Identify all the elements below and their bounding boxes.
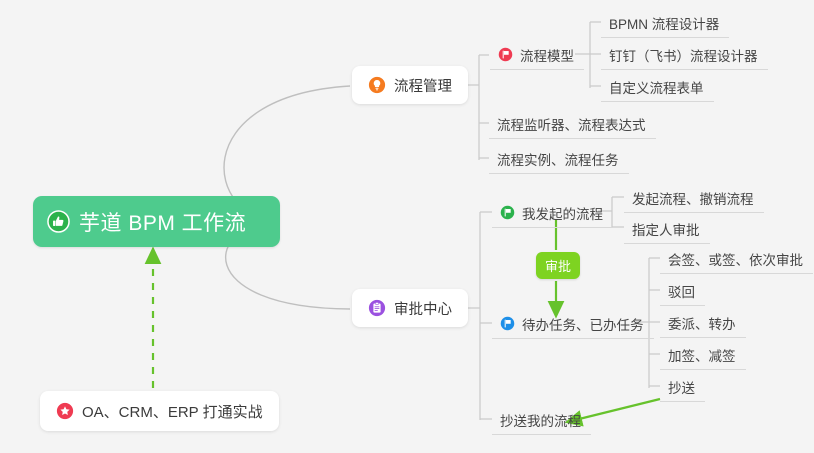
leaf-label-reject: 驳回 [668, 281, 695, 301]
leaf-label-dingtalk-feishu-designer: 钉钉（飞书）流程设计器 [609, 45, 758, 65]
leaf-node-my-initiated[interactable]: 我发起的流程 [492, 198, 613, 228]
leaf-node-todo-done[interactable]: 待办任务、已办任务 [492, 309, 654, 339]
leaf-label-delegate-transfer: 委派、转办 [668, 313, 736, 333]
leaf-label-bpmn-designer: BPMN 流程设计器 [609, 13, 719, 33]
leaf-node-add-remove-sign[interactable]: 加签、减签 [660, 340, 746, 370]
leaf-label-my-initiated: 我发起的流程 [522, 203, 603, 223]
leaf-node-instance-task[interactable]: 流程实例、流程任务 [489, 144, 629, 174]
leaf-label-listener-expression: 流程监听器、流程表达式 [497, 114, 646, 134]
integration-label: OA、CRM、ERP 打通实战 [82, 401, 263, 422]
root-node[interactable]: 芋道 BPM 工作流 [33, 196, 280, 247]
leaf-node-reject[interactable]: 驳回 [660, 276, 705, 306]
leaf-node-delegate-transfer[interactable]: 委派、转办 [660, 308, 746, 338]
branch-node-approval-center[interactable]: 审批中心 [352, 289, 468, 327]
lightbulb-icon [368, 76, 386, 94]
leaf-node-assignee-approval[interactable]: 指定人审批 [624, 214, 710, 244]
leaf-label-cc-to-me: 抄送我的流程 [500, 410, 581, 430]
leaf-node-cc[interactable]: 抄送 [660, 372, 705, 402]
leaf-node-cc-to-me[interactable]: 抄送我的流程 [492, 405, 591, 435]
leaf-node-listener-expression[interactable]: 流程监听器、流程表达式 [489, 109, 656, 139]
leaf-label-custom-process-form: 自定义流程表单 [609, 77, 704, 97]
flag-icon [500, 205, 515, 220]
leaf-label-todo-done: 待办任务、已办任务 [522, 314, 644, 334]
leaf-node-dingtalk-feishu-designer[interactable]: 钉钉（飞书）流程设计器 [601, 40, 768, 70]
leaf-label-cc: 抄送 [668, 377, 695, 397]
flag-icon [498, 47, 513, 62]
thumbs-up-icon [47, 210, 70, 233]
star-icon [56, 402, 74, 420]
leaf-node-start-cancel[interactable]: 发起流程、撤销流程 [624, 183, 764, 213]
leaf-node-multi-sign[interactable]: 会签、或签、依次审批 [660, 244, 813, 274]
leaf-label-add-remove-sign: 加签、减签 [668, 345, 736, 365]
leaf-label-assignee-approval: 指定人审批 [632, 219, 700, 239]
leaf-node-bpmn-designer[interactable]: BPMN 流程设计器 [601, 8, 729, 38]
leaf-node-custom-process-form[interactable]: 自定义流程表单 [601, 72, 714, 102]
integration-node-oa-crm-erp[interactable]: OA、CRM、ERP 打通实战 [40, 391, 279, 431]
leaf-label-multi-sign: 会签、或签、依次审批 [668, 249, 803, 269]
flag-icon [500, 316, 515, 331]
branch-label-process-management: 流程管理 [394, 75, 452, 96]
leaf-label-instance-task: 流程实例、流程任务 [497, 149, 619, 169]
clipboard-icon [368, 299, 386, 317]
mindmap-canvas: 芋道 BPM 工作流 流程管理 流程模型 BPMN 流程设计器 钉钉（飞书 [0, 0, 814, 453]
leaf-label-start-cancel: 发起流程、撤销流程 [632, 188, 754, 208]
leaf-label-process-model: 流程模型 [520, 45, 574, 65]
branch-node-process-management[interactable]: 流程管理 [352, 66, 468, 104]
root-label: 芋道 BPM 工作流 [79, 207, 246, 237]
branch-label-approval-center: 审批中心 [394, 298, 452, 319]
leaf-node-process-model[interactable]: 流程模型 [490, 40, 584, 70]
approval-badge: 审批 [536, 252, 580, 279]
